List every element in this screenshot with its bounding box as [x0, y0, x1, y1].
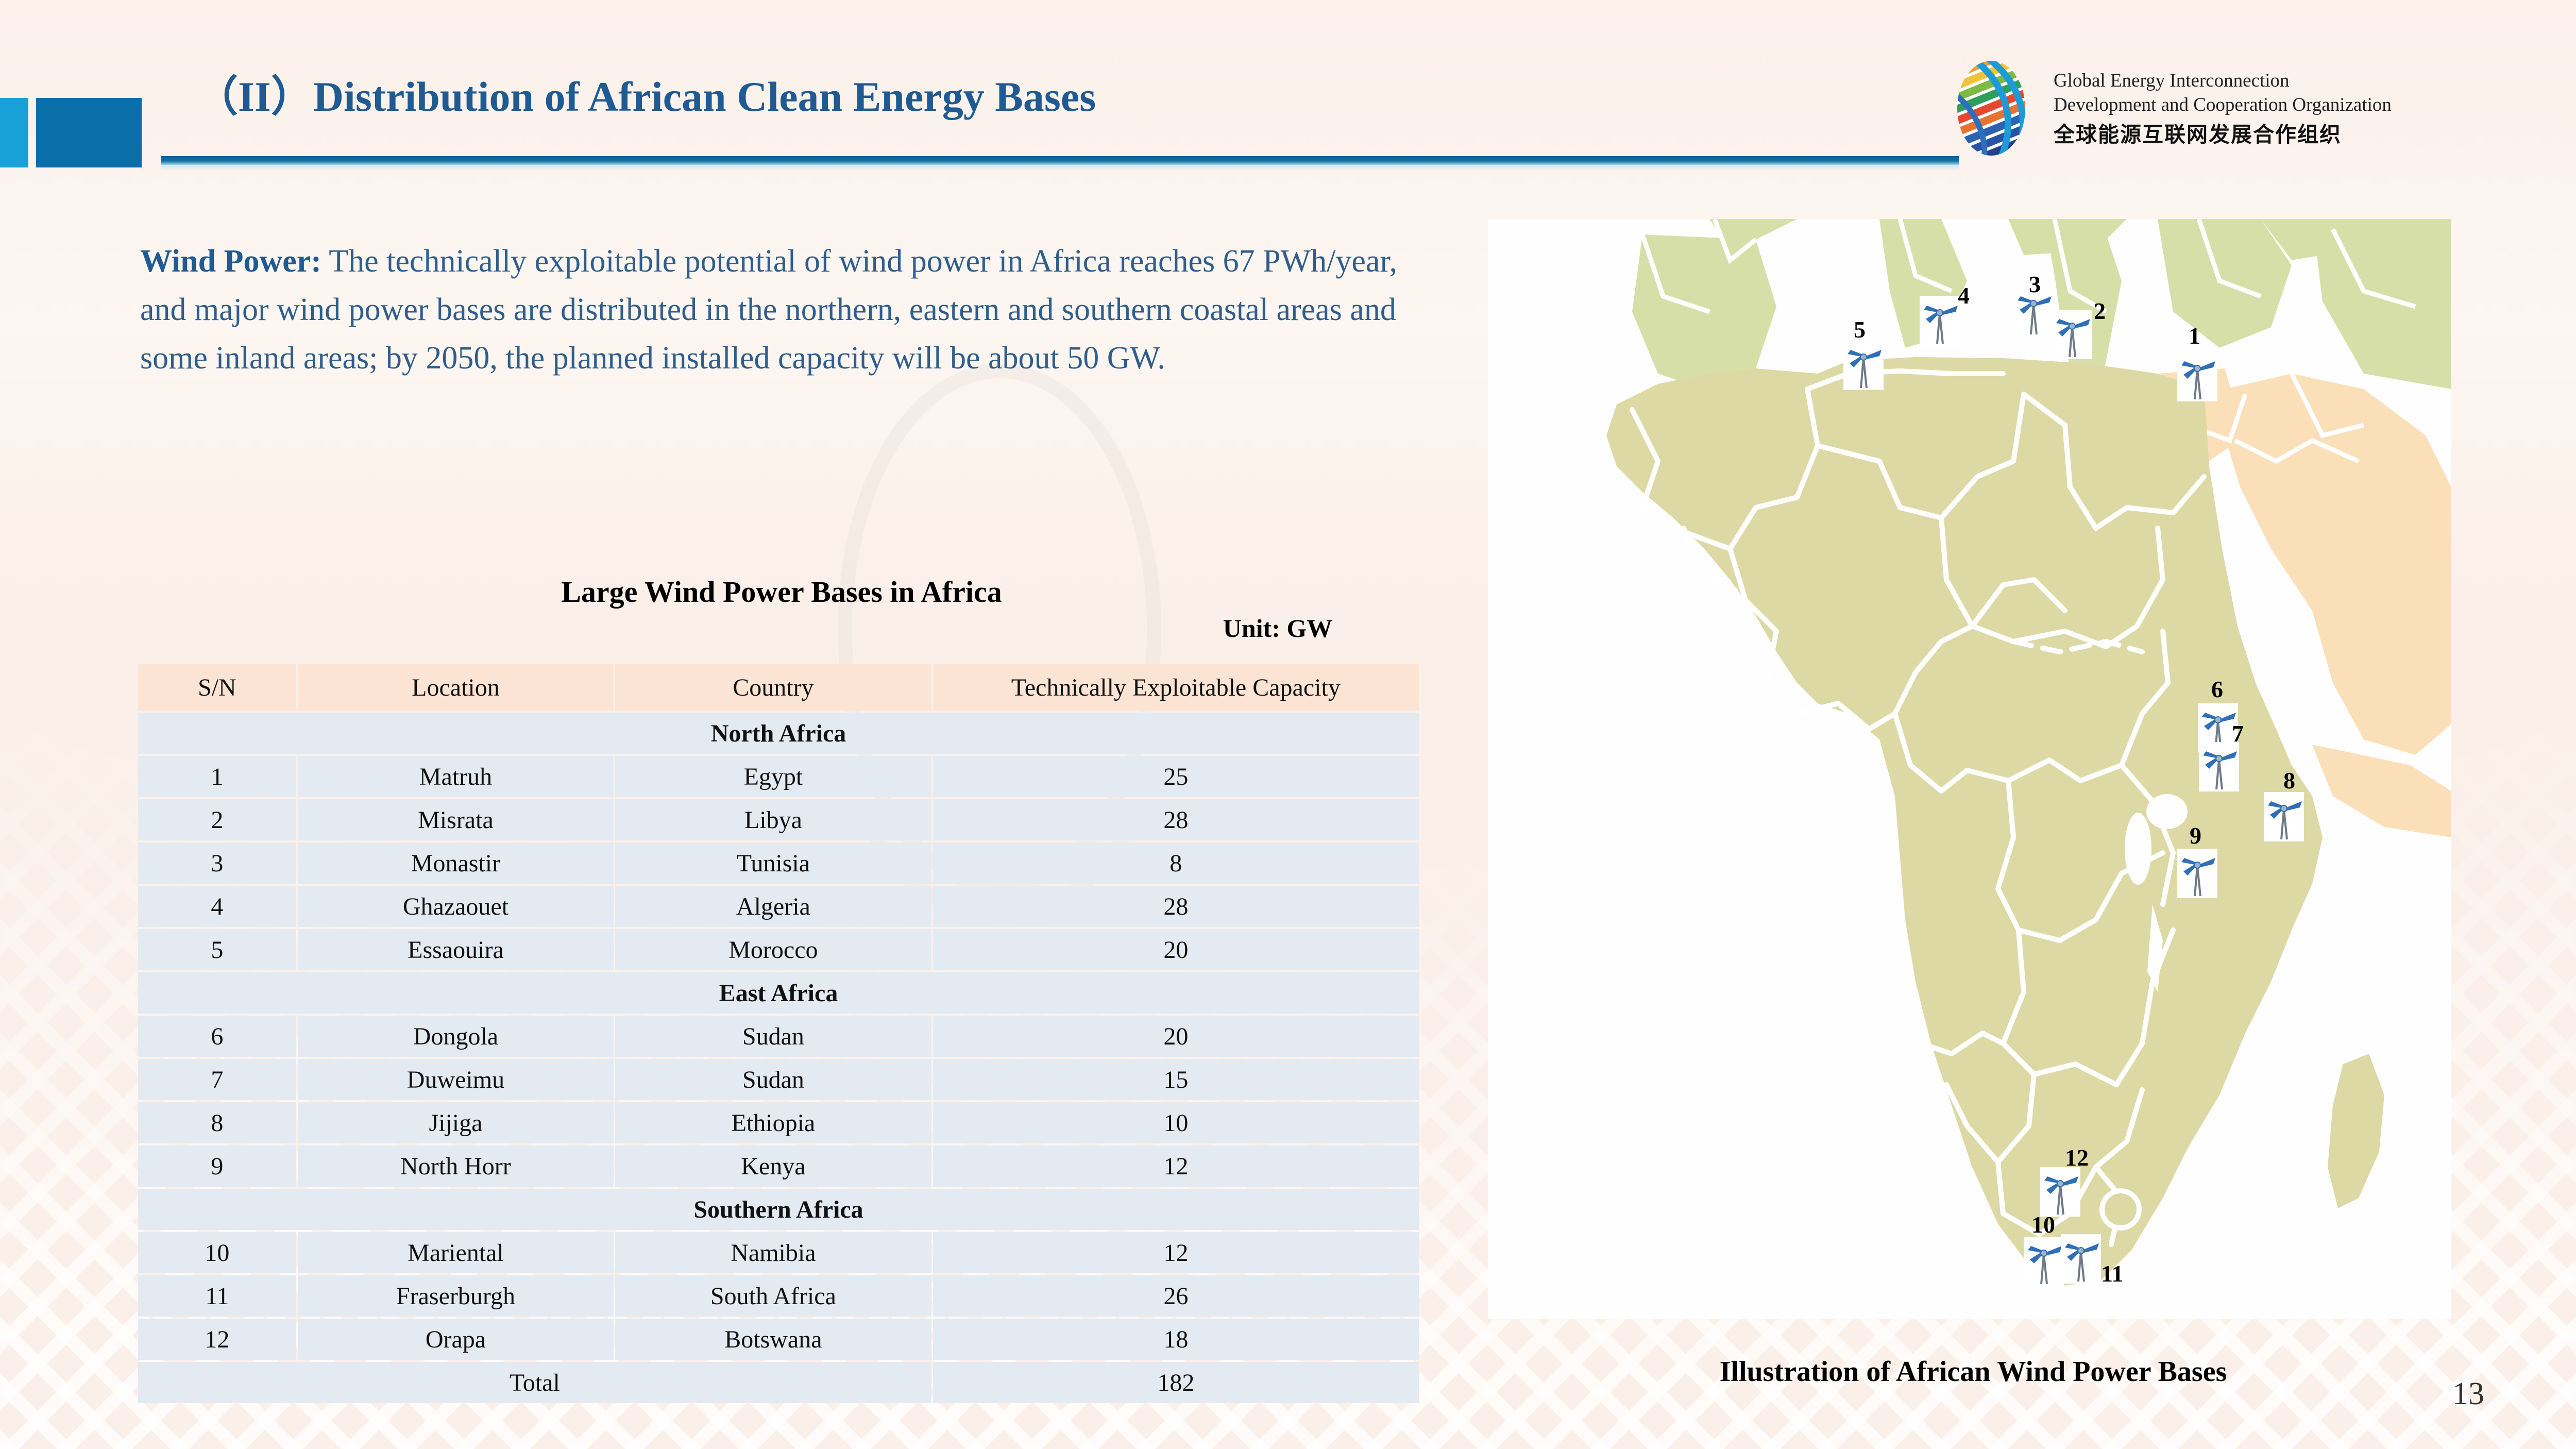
table-row: 5EssaouiraMorocco20: [138, 929, 1419, 970]
cell-sn: 1: [138, 756, 296, 797]
table-row: 7DuweimuSudan15: [138, 1059, 1419, 1100]
cell-sn: 3: [138, 843, 296, 884]
table-row: 10MarientalNamibia12: [138, 1232, 1419, 1273]
cell-location: Matruh: [298, 756, 614, 797]
cell-sn: 10: [138, 1232, 296, 1273]
column-header-sn: S/N: [138, 664, 296, 711]
cell-country: Botswana: [615, 1319, 931, 1360]
logo-text-line-1: Global Energy Interconnection: [2054, 69, 2392, 93]
paragraph-text: The technically exploitable potential of…: [140, 244, 1397, 376]
cell-capacity: 8: [933, 843, 1419, 884]
table-section-label: North Africa: [138, 713, 1419, 754]
table-section-row: East Africa: [138, 972, 1419, 1014]
table-header-row: S/N Location Country Technically Exploit…: [138, 664, 1419, 711]
cell-sn: 11: [138, 1275, 296, 1317]
cell-capacity: 20: [933, 929, 1419, 970]
paragraph-lead-label: Wind Power:: [140, 244, 321, 279]
cell-capacity: 28: [933, 799, 1419, 840]
africa-map-graphic: [1488, 219, 2451, 1319]
cell-location: Mariental: [298, 1232, 614, 1273]
cell-sn: 4: [138, 886, 296, 927]
cell-country: Libya: [615, 799, 931, 840]
table-section-label: Southern Africa: [138, 1189, 1419, 1230]
cell-location: Ghazaouet: [298, 886, 614, 927]
cell-country: South Africa: [615, 1275, 931, 1317]
map-marker-label-4: 4: [1958, 282, 1970, 309]
cell-location: Duweimu: [298, 1059, 614, 1100]
cell-capacity: 10: [933, 1102, 1419, 1143]
table-unit-label: Unit: GW: [1133, 613, 1422, 643]
cell-location: Monastir: [298, 843, 614, 884]
cell-capacity: 15: [933, 1059, 1419, 1100]
cell-sn: 9: [138, 1145, 296, 1187]
wind-turbine-icon: [2199, 742, 2239, 794]
cell-capacity: 28: [933, 886, 1419, 927]
table-section-row: North Africa: [138, 713, 1419, 754]
wind-turbine-icon: [2061, 1234, 2101, 1286]
cell-capacity: 25: [933, 756, 1419, 797]
wind-turbine-icon: [1843, 341, 1884, 393]
cell-country: Kenya: [615, 1145, 931, 1187]
cell-location: Misrata: [298, 799, 614, 840]
wind-turbine-icon: [2040, 1167, 2080, 1219]
cell-capacity: 12: [933, 1145, 1419, 1187]
cell-country: Algeria: [615, 886, 931, 927]
table-title: Large Wind Power Bases in Africa: [140, 575, 1423, 609]
column-header-country: Country: [615, 664, 931, 711]
cell-sn: 7: [138, 1059, 296, 1100]
wind-turbine-icon: [2024, 1237, 2064, 1289]
map-marker-label-5: 5: [1854, 316, 1866, 343]
cell-country: Morocco: [615, 929, 931, 970]
wind-turbine-icon: [2052, 310, 2092, 362]
cell-country: Sudan: [615, 1016, 931, 1057]
table-row: 4GhazaouetAlgeria28: [138, 886, 1419, 927]
cell-capacity: 18: [933, 1319, 1419, 1360]
cell-country: Ethiopia: [615, 1102, 931, 1143]
map-marker-label-1: 1: [2189, 322, 2200, 349]
wind-turbine-icon: [2177, 352, 2217, 404]
total-label: Total: [138, 1362, 931, 1403]
map-marker-label-6: 6: [2211, 676, 2223, 703]
cell-location: Essaouira: [298, 929, 614, 970]
table-section-label: East Africa: [138, 972, 1419, 1014]
cell-country: Tunisia: [615, 843, 931, 884]
map-marker-label-11: 11: [2101, 1260, 2123, 1287]
wind-power-paragraph: Wind Power: The technically exploitable …: [140, 237, 1438, 383]
cell-sn: 8: [138, 1102, 296, 1143]
cell-sn: 6: [138, 1016, 296, 1057]
organization-logo: Global Energy Interconnection Developmen…: [1942, 57, 2392, 160]
table-row: 6DongolaSudan20: [138, 1016, 1419, 1057]
map-marker-label-3: 3: [2029, 271, 2041, 298]
map-marker-label-7: 7: [2232, 720, 2244, 747]
page-title: （II）Distribution of African Clean Energy…: [196, 62, 1690, 123]
cell-location: Fraserburgh: [298, 1275, 614, 1317]
total-value: 182: [933, 1362, 1419, 1403]
cell-capacity: 12: [933, 1232, 1419, 1273]
page-number: 13: [2452, 1376, 2484, 1412]
cell-sn: 12: [138, 1319, 296, 1360]
cell-location: North Horr: [298, 1145, 614, 1187]
table-row: 1MatruhEgypt25: [138, 756, 1419, 797]
map-marker-label-2: 2: [2094, 297, 2106, 325]
map-caption: Illustration of African Wind Power Bases: [1494, 1355, 2452, 1388]
cell-sn: 2: [138, 799, 296, 840]
header-accent-block-light: [0, 98, 28, 167]
table-section-row: Southern Africa: [138, 1189, 1419, 1230]
table-row: 2MisrataLibya28: [138, 799, 1419, 840]
cell-location: Orapa: [298, 1319, 614, 1360]
wind-turbine-icon: [1920, 296, 1960, 348]
table-row: 12OrapaBotswana18: [138, 1319, 1419, 1360]
map-marker-label-8: 8: [2283, 767, 2295, 794]
logo-text-chinese: 全球能源互联网发展合作组织: [2054, 121, 2392, 148]
column-header-capacity: Technically Exploitable Capacity: [933, 664, 1419, 711]
cell-capacity: 20: [933, 1016, 1419, 1057]
cell-capacity: 26: [933, 1275, 1419, 1317]
table-row: 3MonastirTunisia8: [138, 843, 1419, 884]
cell-location: Jijiga: [298, 1102, 614, 1143]
map-marker-label-9: 9: [2190, 822, 2201, 849]
table-total-row: Total182: [138, 1362, 1419, 1403]
wind-turbine-icon: [2264, 792, 2304, 844]
logo-text-line-2: Development and Cooperation Organization: [2054, 93, 2392, 117]
cell-country: Sudan: [615, 1059, 931, 1100]
cell-country: Namibia: [615, 1232, 931, 1273]
table-row: 8JijigaEthiopia10: [138, 1102, 1419, 1143]
table-row: 11FraserburghSouth Africa26: [138, 1275, 1419, 1317]
wind-power-bases-table: S/N Location Country Technically Exploit…: [137, 662, 1420, 1405]
wind-turbine-icon: [2177, 849, 2217, 901]
globe-stripes-logo-icon: [1942, 57, 2040, 160]
cell-country: Egypt: [615, 756, 931, 797]
cell-sn: 5: [138, 929, 296, 970]
africa-wind-map: 123456789101112: [1488, 219, 2451, 1319]
header-accent-block-dark: [36, 98, 142, 167]
table-row: 9North HorrKenya12: [138, 1145, 1419, 1187]
header-divider-rule: [161, 156, 1959, 165]
column-header-location: Location: [298, 664, 614, 711]
map-marker-label-12: 12: [2065, 1144, 2089, 1171]
cell-location: Dongola: [298, 1016, 614, 1057]
